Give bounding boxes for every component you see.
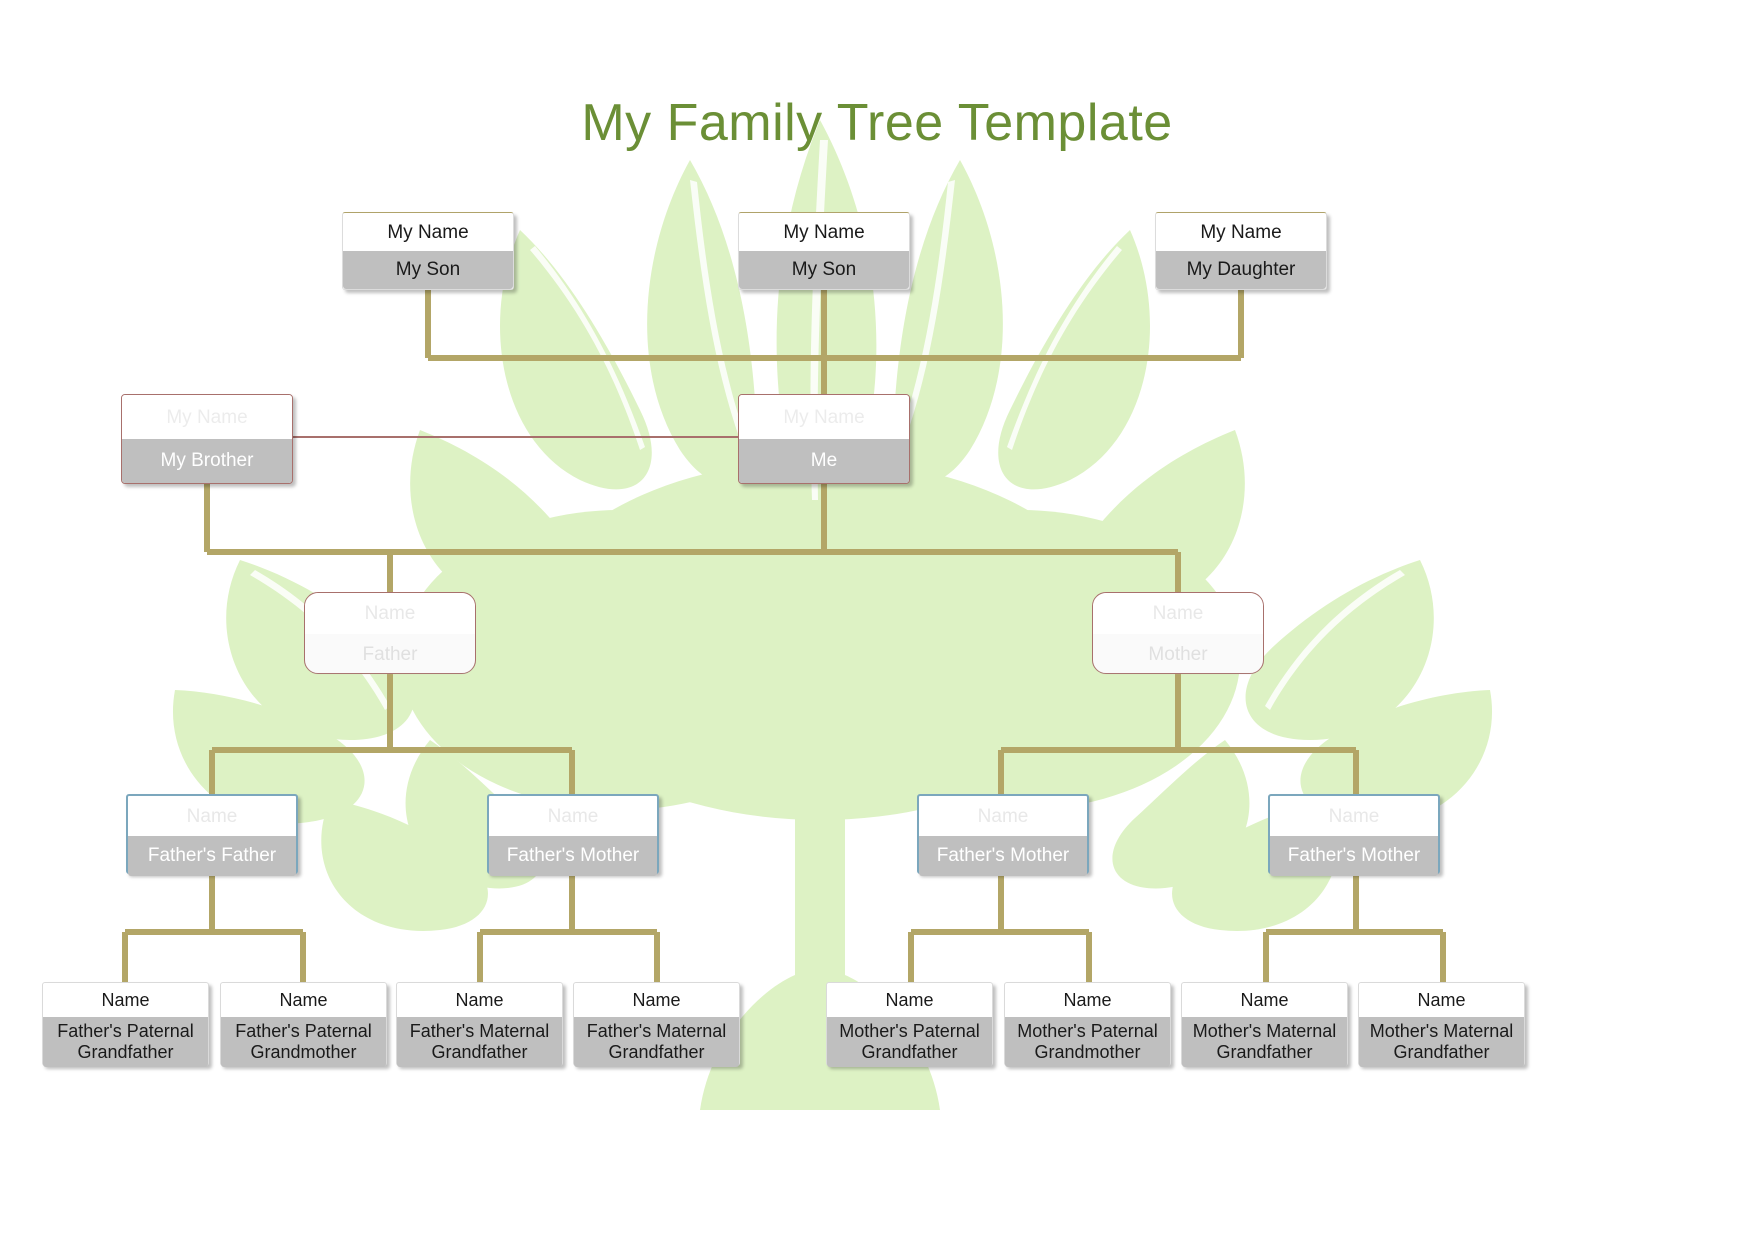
node-great-grandparent-3[interactable]: Name Father's Maternal Grandfather [396, 982, 563, 1066]
node-great-grandparent-8[interactable]: Name Mother's Maternal Grandfather [1358, 982, 1525, 1066]
node-role-label: Father's Maternal Grandfather [397, 1017, 562, 1067]
page-title: My Family Tree Template [0, 93, 1754, 153]
node-role-label: Father's Mother [1270, 836, 1438, 876]
node-great-grandparent-7[interactable]: Name Mother's Maternal Grandfather [1181, 982, 1348, 1066]
node-role-line-1: Father's Paternal [57, 1021, 194, 1042]
node-role-label: My Daughter [1156, 251, 1326, 289]
node-name-label: Name [1093, 593, 1263, 634]
node-grandparent-1[interactable]: Name Father's Father [126, 794, 298, 874]
node-name-label: Name [574, 983, 739, 1017]
node-name-label: Name [221, 983, 386, 1017]
node-role-label: Mother [1093, 634, 1263, 675]
node-name-label: My Name [343, 213, 513, 251]
node-role-label: Father's Paternal Grandmother [221, 1017, 386, 1067]
node-role-label: Me [739, 439, 909, 483]
node-child-2[interactable]: My Name My Son [738, 212, 910, 290]
node-grandparent-2[interactable]: Name Father's Mother [487, 794, 659, 874]
node-role-line-1: Father's Maternal [410, 1021, 550, 1042]
node-role-label: My Son [739, 251, 909, 289]
node-name-label: Name [1270, 796, 1438, 836]
node-name-label: Name [489, 796, 657, 836]
node-role-label: Mother's Maternal Grandfather [1359, 1017, 1524, 1067]
node-role-line-1: Mother's Maternal [1370, 1021, 1514, 1042]
node-role-line-1: Mother's Maternal [1193, 1021, 1337, 1042]
node-role-line-2: Grandfather [431, 1042, 527, 1063]
node-role-label: Father's Father [128, 836, 296, 876]
node-role-label: My Son [343, 251, 513, 289]
node-great-grandparent-2[interactable]: Name Father's Paternal Grandmother [220, 982, 387, 1066]
node-my-brother[interactable]: My Name My Brother [121, 394, 293, 484]
node-father[interactable]: Name Father [304, 592, 476, 674]
node-role-label: Father [305, 634, 475, 675]
node-name-label: Name [1182, 983, 1347, 1017]
node-child-3[interactable]: My Name My Daughter [1155, 212, 1327, 290]
node-great-grandparent-1[interactable]: Name Father's Paternal Grandfather [42, 982, 209, 1066]
node-grandparent-3[interactable]: Name Father's Mother [917, 794, 1089, 874]
node-role-label: Mother's Paternal Grandfather [827, 1017, 992, 1067]
node-role-line-1: Father's Paternal [235, 1021, 372, 1042]
node-role-label: Mother's Paternal Grandmother [1005, 1017, 1170, 1067]
node-great-grandparent-4[interactable]: Name Father's Maternal Grandfather [573, 982, 740, 1066]
node-name-label: Name [827, 983, 992, 1017]
node-name-label: Name [919, 796, 1087, 836]
node-role-label: Mother's Maternal Grandfather [1182, 1017, 1347, 1067]
node-role-label: My Brother [122, 439, 292, 483]
node-name-label: Name [43, 983, 208, 1017]
node-name-label: Name [397, 983, 562, 1017]
node-role-line-1: Father's Maternal [587, 1021, 727, 1042]
node-mother[interactable]: Name Mother [1092, 592, 1264, 674]
node-great-grandparent-5[interactable]: Name Mother's Paternal Grandfather [826, 982, 993, 1066]
node-role-label: Father's Mother [489, 836, 657, 876]
node-role-label: Father's Mother [919, 836, 1087, 876]
node-role-line-2: Grandfather [861, 1042, 957, 1063]
node-name-label: Name [305, 593, 475, 634]
node-name-label: My Name [122, 395, 292, 439]
family-tree-canvas: My Family Tree Template My Name My Son M… [0, 0, 1754, 1240]
node-role-line-1: Mother's Paternal [1017, 1021, 1158, 1042]
node-role-line-2: Grandfather [1216, 1042, 1312, 1063]
node-name-label: Name [1005, 983, 1170, 1017]
node-grandparent-4[interactable]: Name Father's Mother [1268, 794, 1440, 874]
node-name-label: Name [1359, 983, 1524, 1017]
node-role-line-2: Grandfather [608, 1042, 704, 1063]
node-me[interactable]: My Name Me [738, 394, 910, 484]
node-great-grandparent-6[interactable]: Name Mother's Paternal Grandmother [1004, 982, 1171, 1066]
node-child-1[interactable]: My Name My Son [342, 212, 514, 290]
node-role-line-2: Grandfather [77, 1042, 173, 1063]
node-role-line-2: Grandmother [1034, 1042, 1140, 1063]
node-role-label: Father's Maternal Grandfather [574, 1017, 739, 1067]
node-role-label: Father's Paternal Grandfather [43, 1017, 208, 1067]
node-name-label: My Name [1156, 213, 1326, 251]
node-name-label: My Name [739, 213, 909, 251]
node-role-line-2: Grandfather [1393, 1042, 1489, 1063]
node-name-label: My Name [739, 395, 909, 439]
node-role-line-1: Mother's Paternal [839, 1021, 980, 1042]
node-name-label: Name [128, 796, 296, 836]
node-role-line-2: Grandmother [250, 1042, 356, 1063]
